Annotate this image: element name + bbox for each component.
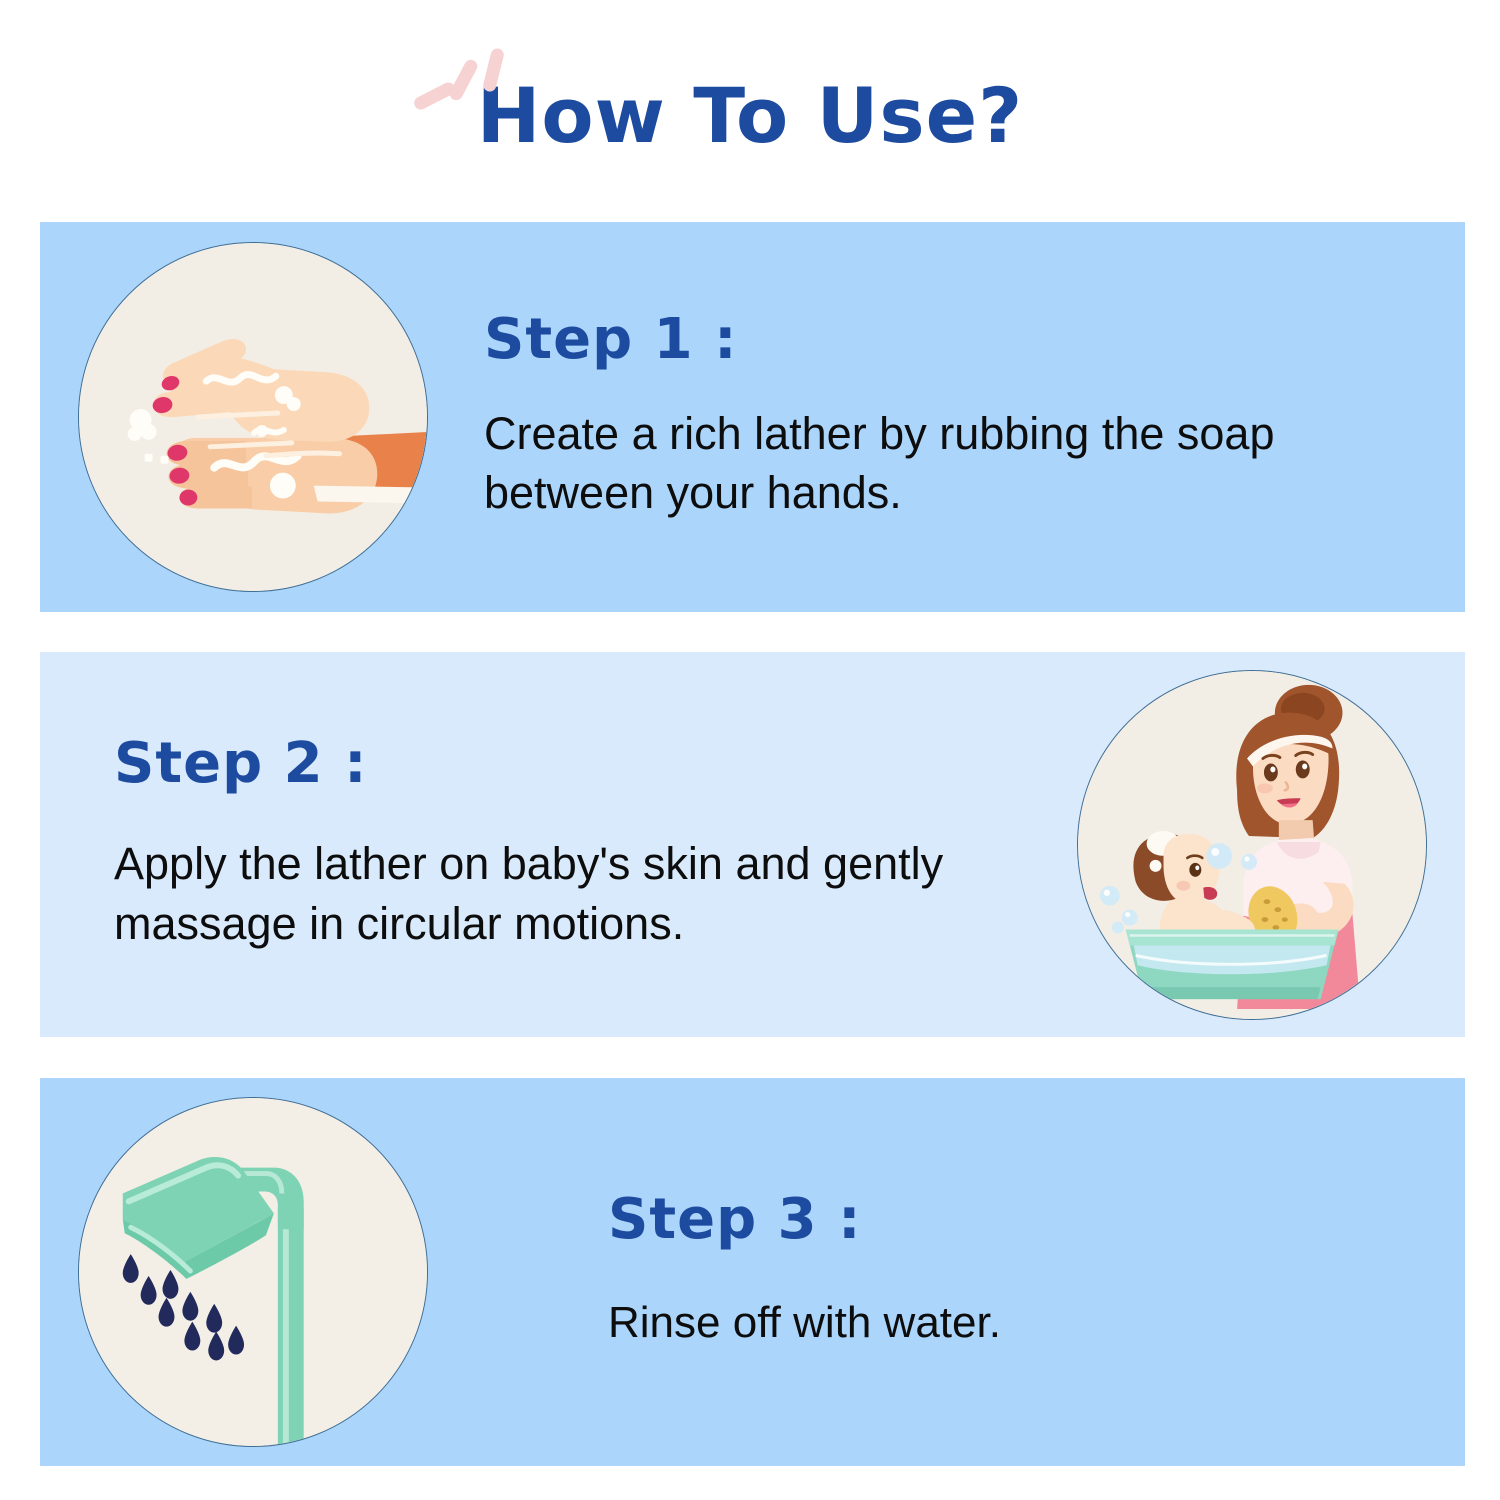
- sparkle-stroke-1-icon: [412, 80, 457, 112]
- showerhead-illustration: [79, 1098, 427, 1446]
- step-2-copy: Step 2 : Apply the lather on baby's skin…: [40, 736, 1049, 953]
- step-2-body: Apply the lather on baby's skin and gent…: [114, 834, 1014, 953]
- step-1-media: [78, 242, 428, 592]
- page-title: How To Use?: [477, 78, 1024, 154]
- page-header: How To Use?: [0, 78, 1500, 154]
- step-1-image-circle: [78, 242, 428, 592]
- step-3-media: [78, 1097, 428, 1447]
- step-1-body: Create a rich lather by rubbing the soap…: [484, 404, 1384, 523]
- step-2-panel: Step 2 : Apply the lather on baby's skin…: [40, 652, 1465, 1037]
- mother-bathing-baby-illustration: [1078, 671, 1426, 1019]
- step-1-heading: Step 1 :: [484, 312, 1441, 368]
- step-2-heading: Step 2 :: [114, 736, 1025, 792]
- step-2-media: [1077, 670, 1427, 1020]
- step-2-image-circle: [1077, 670, 1427, 1020]
- hands-washing-illustration: [79, 243, 427, 591]
- step-3-panel: Step 3 : Rinse off with water.: [40, 1078, 1465, 1466]
- step-3-copy: Step 3 : Rinse off with water.: [456, 1192, 1465, 1352]
- step-1-copy: Step 1 : Create a rich lather by rubbing…: [456, 312, 1465, 523]
- sparkle-stroke-2-icon: [447, 58, 479, 103]
- step-3-heading: Step 3 :: [608, 1192, 1441, 1248]
- step-3-image-circle: [78, 1097, 428, 1447]
- step-3-body: Rinse off with water.: [608, 1294, 1441, 1352]
- step-1-panel: Step 1 : Create a rich lather by rubbing…: [40, 222, 1465, 612]
- how-to-use-infographic: How To Use?: [0, 0, 1500, 1500]
